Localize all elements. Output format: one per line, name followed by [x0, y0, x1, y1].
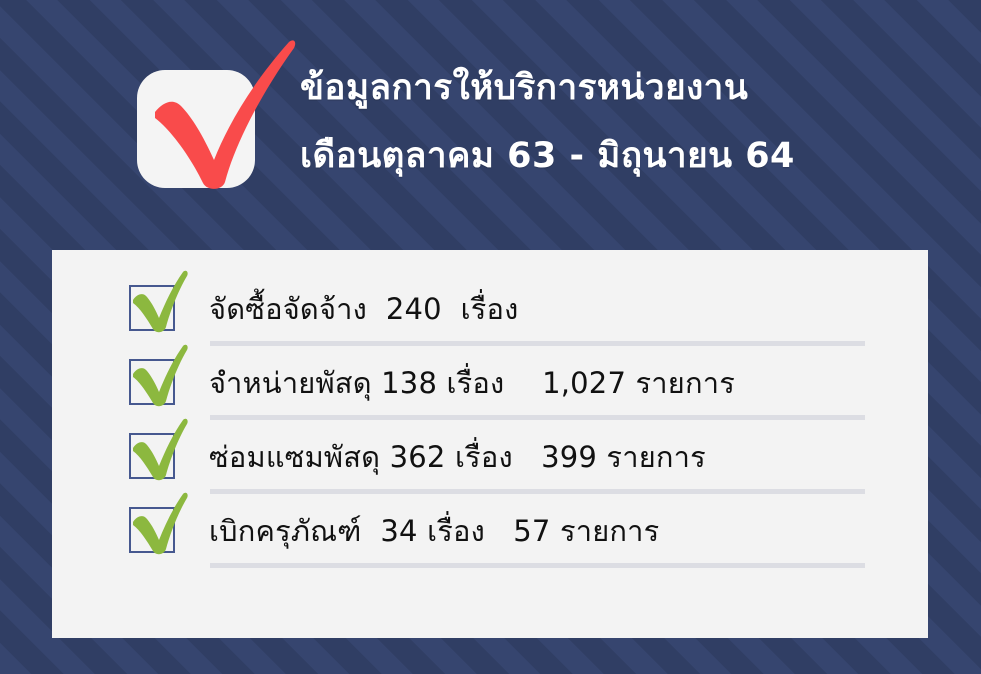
- check-tick-icon: [127, 270, 189, 338]
- title-line-2: เดือนตุลาคม 63 - มิถุนายน 64: [300, 122, 940, 190]
- stats-card: จัดซื้อจัดจ้าง 240 เรื่อง จำหน่ายพัสดุ 1…: [52, 250, 928, 638]
- green-check-box-icon: [129, 426, 185, 486]
- green-check-box-icon: [129, 352, 185, 412]
- infographic-canvas: ข้อมูลการให้บริการหน่วยงาน เดือนตุลาคม 6…: [0, 0, 981, 674]
- check-tick-icon: [127, 492, 189, 560]
- list-item-label: จำหน่ายพัสดุ 138 เรื่อง 1,027 รายการ: [209, 346, 735, 420]
- list-item: ซ่อมแซมพัสดุ 362 เรื่อง 399 รายการ: [52, 420, 928, 494]
- list-item: จัดซื้อจัดจ้าง 240 เรื่อง: [52, 272, 928, 346]
- check-tick-icon: [127, 344, 189, 412]
- logo: [137, 36, 297, 191]
- list-item-label: เบิกครุภัณฑ์ 34 เรื่อง 57 รายการ: [209, 494, 659, 568]
- title-block: ข้อมูลการให้บริการหน่วยงาน เดือนตุลาคม 6…: [300, 54, 940, 190]
- green-check-box-icon: [129, 278, 185, 338]
- stats-list: จัดซื้อจัดจ้าง 240 เรื่อง จำหน่ายพัสดุ 1…: [52, 272, 928, 568]
- list-item: เบิกครุภัณฑ์ 34 เรื่อง 57 รายการ: [52, 494, 928, 568]
- header: ข้อมูลการให้บริการหน่วยงาน เดือนตุลาคม 6…: [0, 0, 981, 232]
- row-divider: [210, 563, 865, 568]
- list-item-label: ซ่อมแซมพัสดุ 362 เรื่อง 399 รายการ: [209, 420, 706, 494]
- green-check-box-icon: [129, 500, 185, 560]
- title-line-1: ข้อมูลการให้บริการหน่วยงาน: [300, 54, 940, 122]
- list-item-label: จัดซื้อจัดจ้าง 240 เรื่อง: [209, 272, 518, 346]
- check-tick-icon: [127, 418, 189, 486]
- list-item: จำหน่ายพัสดุ 138 เรื่อง 1,027 รายการ: [52, 346, 928, 420]
- red-checkmark-logo-icon: [137, 36, 297, 191]
